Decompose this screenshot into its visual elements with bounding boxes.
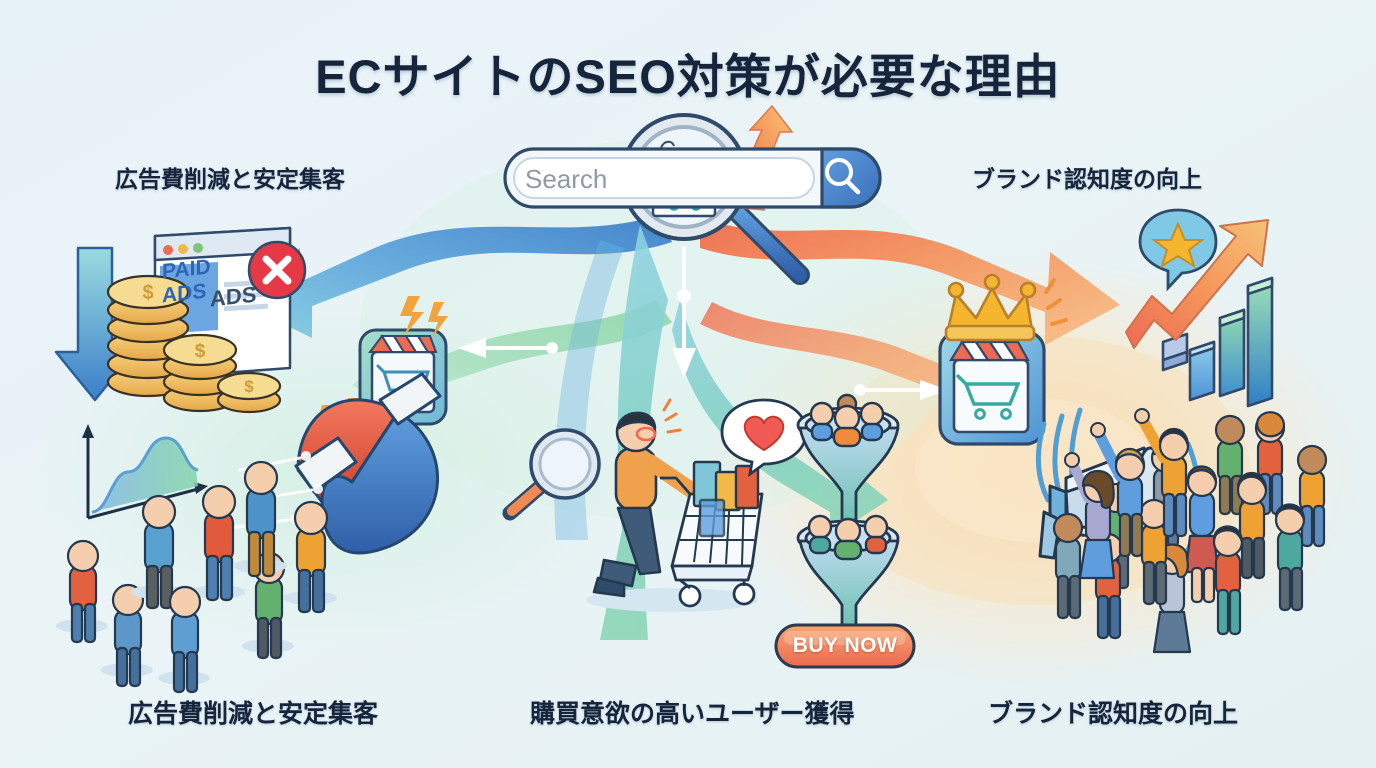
caption-center: 購買意欲の高いユーザー獲得 (530, 694, 855, 730)
bar-2 (1190, 342, 1214, 400)
heading-top-left: 広告費削減と安定集客 (115, 160, 345, 194)
svg-text:$: $ (142, 282, 153, 304)
heading-top-right: ブランド認知度の向上 (972, 160, 1202, 194)
page-title: ECサイトのSEO対策が必要な理由 (0, 38, 1376, 107)
illustration-background: $ $ $ (0, 0, 1376, 768)
bar-3 (1220, 310, 1244, 396)
ads-window-line2: ADS (162, 280, 206, 309)
svg-text:$: $ (244, 377, 254, 396)
caption-right: ブランド認知度の向上 (988, 694, 1238, 730)
bar-4 (1248, 278, 1272, 406)
svg-text:$: $ (195, 341, 206, 362)
ads-window-line3: ADS (210, 282, 256, 313)
caption-left: 広告費削減と安定集客 (128, 694, 378, 730)
search-input-placeholder[interactable]: Search (525, 164, 645, 194)
buy-now-button-label[interactable]: BUY NOW (776, 625, 914, 667)
infographic-canvas: $ $ $ (0, 0, 1376, 768)
